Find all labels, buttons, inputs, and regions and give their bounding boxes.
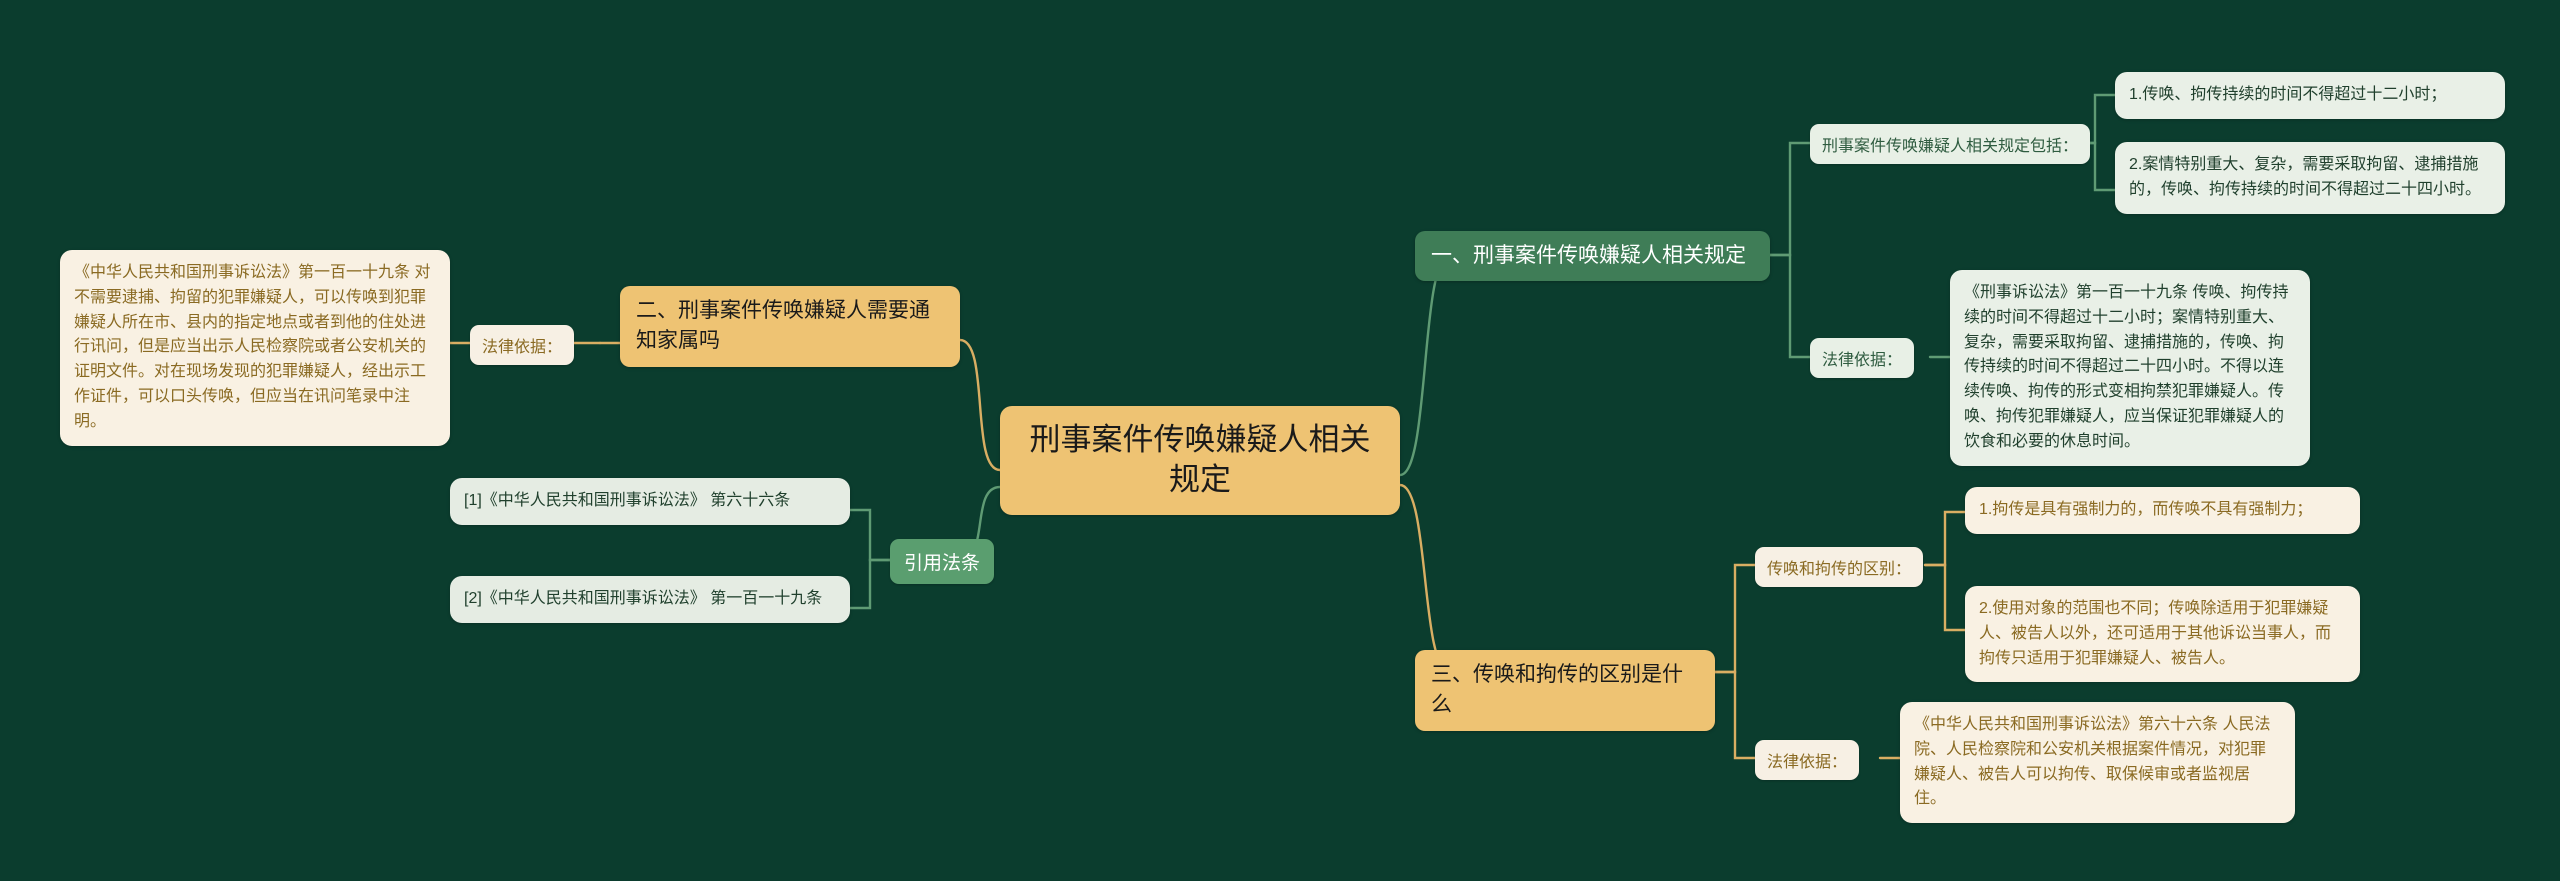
difference-card-2[interactable]: 2.使用对象的范围也不同；传唤除适用于犯罪嫌疑人、被告人以外，还可适用于其他诉讼…: [1965, 586, 2360, 682]
rule-card-1[interactable]: 1.传唤、拘传持续的时间不得超过十二小时；: [2115, 72, 2505, 119]
legal-basis-label-right-one[interactable]: 法律依据：: [1810, 338, 1914, 378]
branch-node-one[interactable]: 一、刑事案件传唤嫌疑人相关规定: [1415, 231, 1770, 281]
branch-node-two[interactable]: 二、刑事案件传唤嫌疑人需要通知家属吗: [620, 286, 960, 367]
branch-node-three[interactable]: 三、传唤和拘传的区别是什么: [1415, 650, 1715, 731]
legal-basis-card-left[interactable]: 《中华人民共和国刑事诉讼法》第一百一十九条 对不需要逮捕、拘留的犯罪嫌疑人，可以…: [60, 250, 450, 446]
rules-label-chip[interactable]: 刑事案件传唤嫌疑人相关规定包括：: [1810, 124, 2090, 164]
mindmap-canvas: 刑事案件传唤嫌疑人相关规定 二、刑事案件传唤嫌疑人需要通知家属吗 法律依据： 《…: [0, 0, 2560, 881]
differences-label-chip[interactable]: 传唤和拘传的区别：: [1755, 547, 1923, 587]
citation-item-2[interactable]: [2]《中华人民共和国刑事诉讼法》 第一百一十九条: [450, 576, 850, 623]
citation-item-1[interactable]: [1]《中华人民共和国刑事诉讼法》 第六十六条: [450, 478, 850, 525]
legal-basis-label-left[interactable]: 法律依据：: [470, 325, 574, 365]
root-node[interactable]: 刑事案件传唤嫌疑人相关规定: [1000, 406, 1400, 515]
citations-node[interactable]: 引用法条: [890, 539, 994, 584]
rule-card-2[interactable]: 2.案情特别重大、复杂，需要采取拘留、逮捕措施的，传唤、拘传持续的时间不得超过二…: [2115, 142, 2505, 214]
legal-basis-card-right-one[interactable]: 《刑事诉讼法》第一百一十九条 传唤、拘传持续的时间不得超过十二小时；案情特别重大…: [1950, 270, 2310, 466]
legal-basis-card-right-three[interactable]: 《中华人民共和国刑事诉讼法》第六十六条 人民法院、人民检察院和公安机关根据案件情…: [1900, 702, 2295, 823]
difference-card-1[interactable]: 1.拘传是具有强制力的，而传唤不具有强制力；: [1965, 487, 2360, 534]
legal-basis-label-right-three[interactable]: 法律依据：: [1755, 740, 1859, 780]
